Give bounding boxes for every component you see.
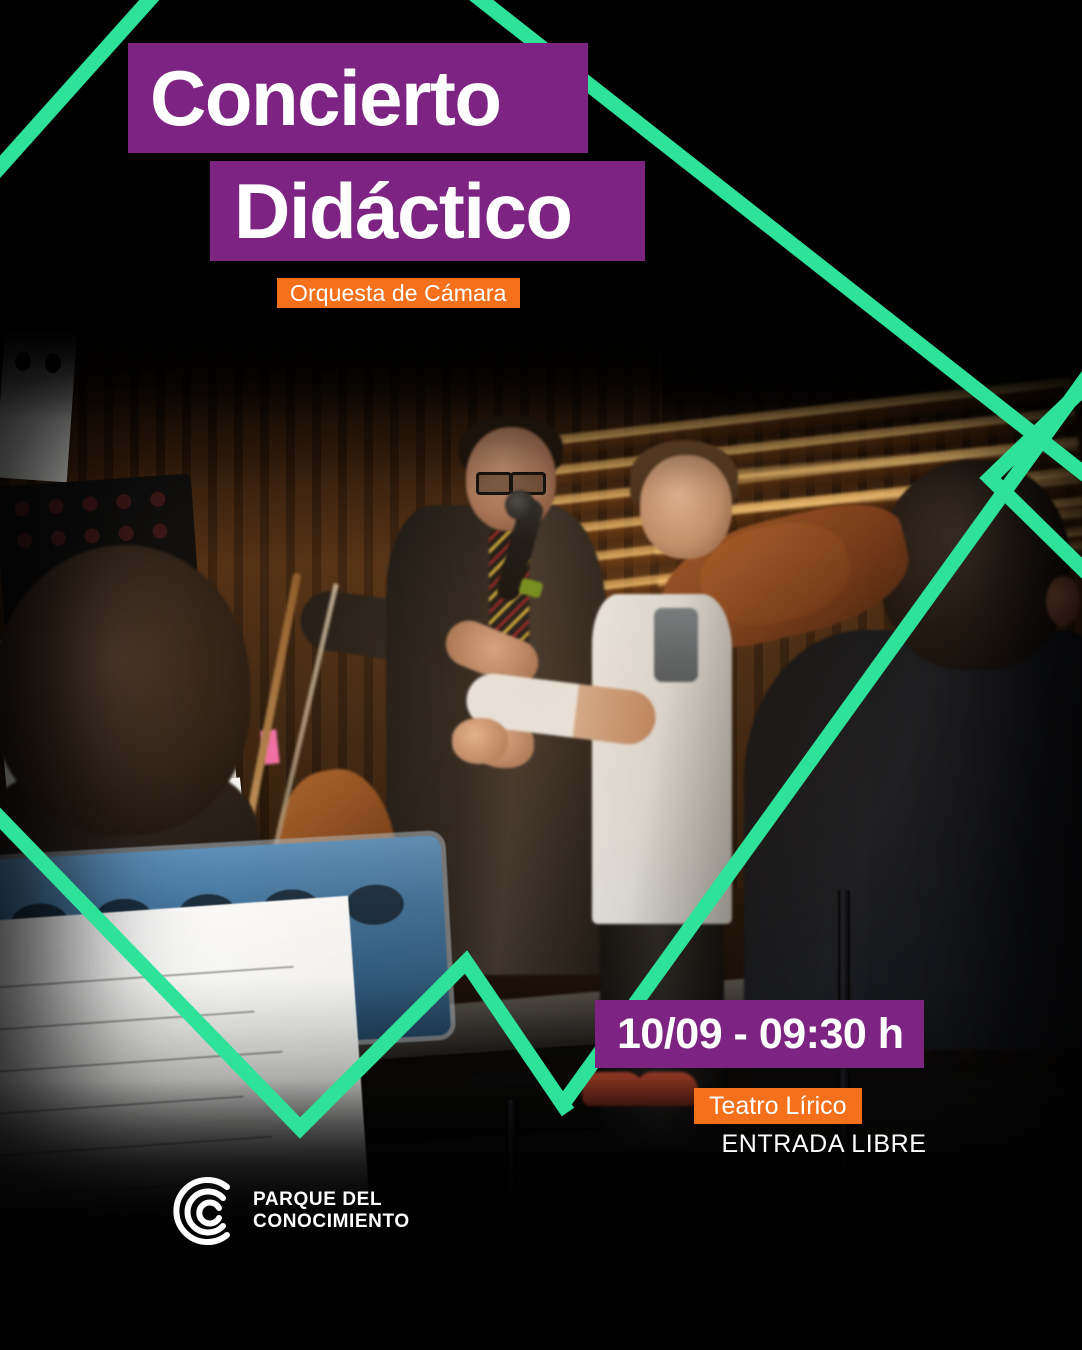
organization-logo: PARQUE DEL CONOCIMIENTO bbox=[165, 1170, 410, 1252]
venue-text: Teatro Lírico bbox=[709, 1094, 847, 1119]
organization-name: PARQUE DEL CONOCIMIENTO bbox=[253, 1189, 410, 1233]
photo-top-fade bbox=[0, 330, 1082, 420]
admission-note: ENTRADA LIBRE bbox=[694, 1132, 954, 1157]
venue-badge: Teatro Lírico bbox=[694, 1088, 862, 1124]
datetime-text: 10/09 - 09:30 h bbox=[617, 1013, 904, 1056]
title-line-1: Concierto bbox=[128, 43, 588, 153]
title-line-1-text: Concierto bbox=[150, 59, 501, 137]
datetime-badge: 10/09 - 09:30 h bbox=[595, 1000, 924, 1068]
admission-text: ENTRADA LIBRE bbox=[721, 1130, 926, 1158]
concert-poster: Concierto Didáctico Orquesta de Cámara 1… bbox=[0, 0, 1082, 1350]
concert-photo bbox=[0, 330, 1082, 1230]
title-line-2-text: Didáctico bbox=[234, 172, 572, 250]
subtitle-badge: Orquesta de Cámara bbox=[277, 278, 520, 308]
title-line-2: Didáctico bbox=[210, 161, 645, 261]
concentric-arcs-icon bbox=[165, 1170, 239, 1252]
subtitle-text: Orquesta de Cámara bbox=[290, 282, 507, 305]
